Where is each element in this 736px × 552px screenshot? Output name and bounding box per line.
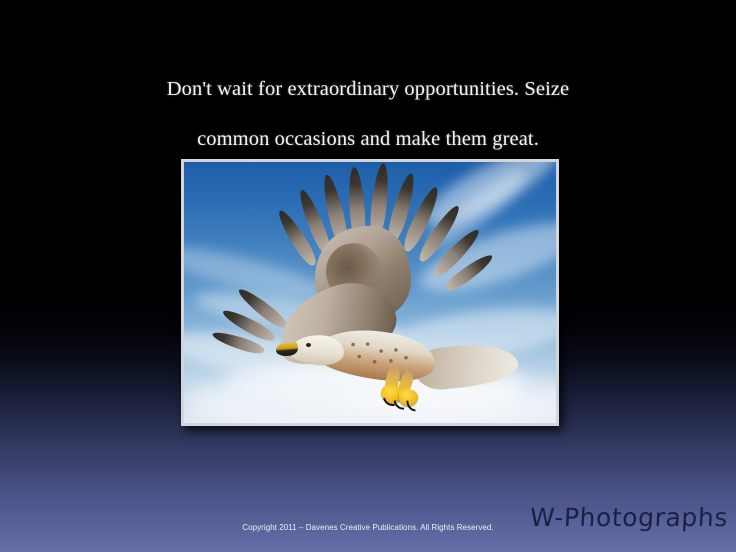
hawk-figure bbox=[218, 169, 518, 419]
photo-frame bbox=[181, 159, 559, 426]
quote-line-2: common occasions and make them great. bbox=[0, 127, 736, 152]
hawk-claw bbox=[394, 399, 405, 410]
brand-logo: W-Photographs bbox=[529, 503, 729, 532]
quote-line-1: Don't wait for extraordinary opportuniti… bbox=[0, 77, 736, 102]
hawk-claw bbox=[406, 400, 417, 411]
hawk-eye bbox=[306, 343, 311, 347]
presentation-slide: Don't wait for extraordinary opportuniti… bbox=[0, 0, 736, 552]
hawk-photograph bbox=[184, 162, 556, 423]
